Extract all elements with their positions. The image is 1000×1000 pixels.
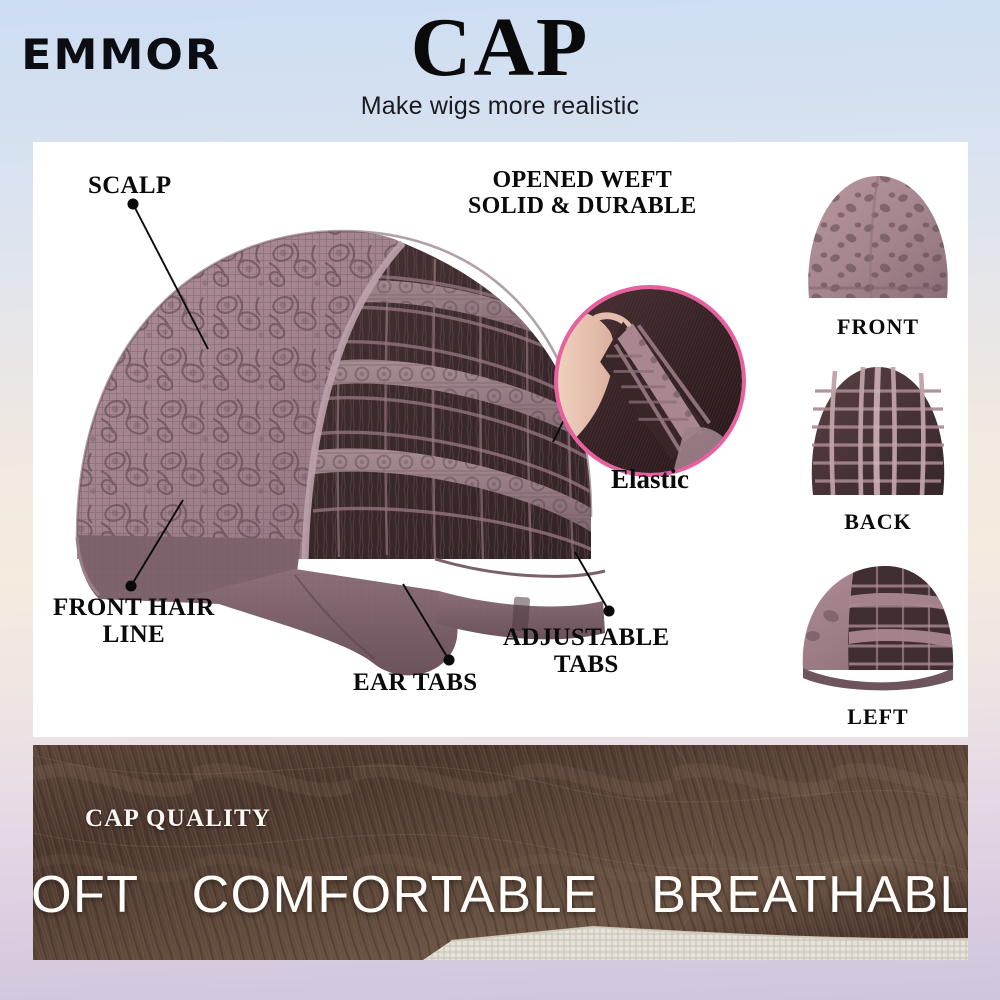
cap-quality-heading: CAP QUALITY (85, 805, 271, 833)
quality-item-soft: SOFT (33, 865, 140, 925)
quality-banner: CAP QUALITY SOFT COMFORTABLE BREATHABLE (33, 745, 968, 960)
cap-view-front-image (793, 160, 963, 310)
callout-label-ear-tabs: EAR TABS (353, 669, 477, 696)
callout-line: SCALP (88, 172, 171, 199)
callout-label-front-hair-line: FRONT HAIR LINE (53, 594, 215, 648)
diagram-panel: SCALP OPENED WEFT SOLID & DURABLE FRONT … (33, 142, 968, 737)
callout-line: SOLID & DURABLE (468, 194, 697, 220)
cap-view-back-image (793, 355, 963, 505)
page-header: EMMOR CAP Make wigs more realistic (0, 0, 1000, 142)
callout-line: TABS (503, 651, 669, 678)
cap-view-front-label: FRONT (793, 314, 963, 340)
cap-view-left-image (793, 550, 963, 700)
callout-label-opened-weft: OPENED WEFT SOLID & DURABLE (468, 168, 697, 220)
cap-view-back-label: BACK (793, 509, 963, 535)
ear-tab (193, 569, 457, 675)
quality-item-comfortable: COMFORTABLE (192, 865, 600, 925)
quality-list: SOFT COMFORTABLE BREATHABLE (33, 865, 968, 925)
callout-label-scalp: SCALP (88, 172, 171, 199)
callout-line: LINE (53, 621, 215, 648)
cap-view-front[interactable]: FRONT (793, 160, 963, 340)
hair-texture-background (33, 745, 968, 960)
callout-line: EAR TABS (353, 669, 477, 696)
quality-item-breathable: BREATHABLE (651, 865, 968, 925)
callout-line: ADJUSTABLE (503, 624, 669, 651)
page-title: CAP (0, 6, 1000, 90)
cap-view-left-label: LEFT (793, 704, 963, 730)
callout-line: FRONT HAIR (53, 594, 215, 621)
page-subtitle: Make wigs more realistic (0, 92, 1000, 121)
elastic-callout-label: Elastic (554, 464, 746, 495)
callout-label-adjustable-tabs: ADJUSTABLE TABS (503, 624, 669, 678)
elastic-zoom-callout (554, 285, 746, 477)
cap-views-column: FRONT (793, 160, 963, 720)
cap-view-left[interactable]: LEFT (793, 550, 963, 730)
callout-line: OPENED WEFT (468, 168, 697, 194)
cap-view-back[interactable]: BACK (793, 355, 963, 535)
